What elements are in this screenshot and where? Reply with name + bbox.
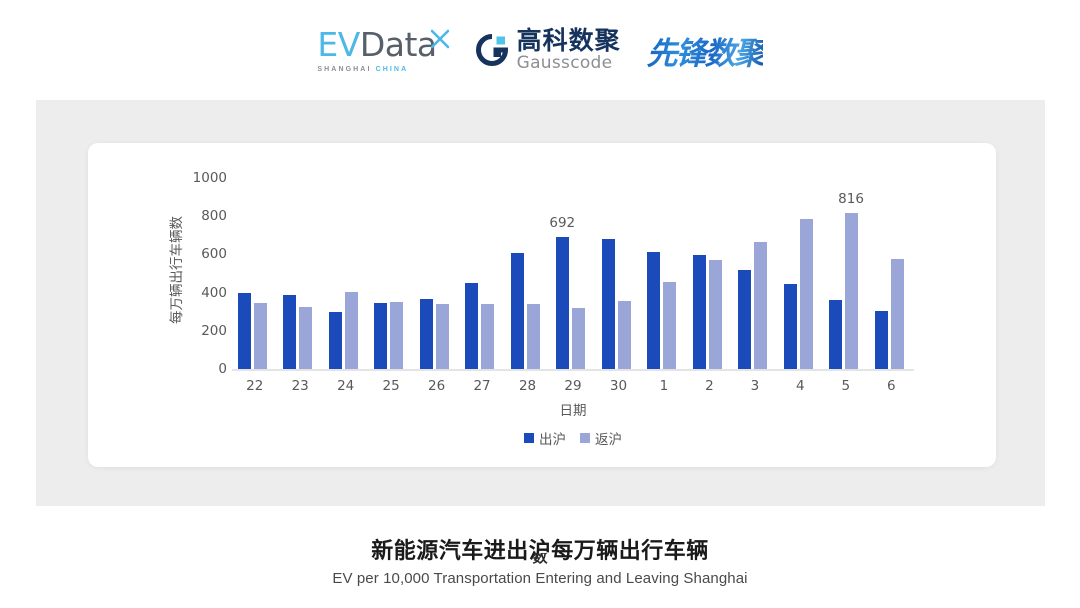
evdata-data-text: Data <box>360 25 437 64</box>
logo-bar: EVData SHANGHAI CHINA 高科数 <box>0 14 1080 86</box>
bar-out-of-shanghai[interactable] <box>511 253 524 369</box>
bar-group <box>869 178 914 369</box>
bar-out-of-shanghai[interactable] <box>374 303 387 369</box>
x-axis-tick-label: 5 <box>825 378 867 394</box>
logo-xianfeng: 先锋数聚 <box>647 28 763 73</box>
x-axis-tick-label: 25 <box>370 378 412 394</box>
bar-group <box>596 178 641 369</box>
x-axis-tick-label: 30 <box>597 378 639 394</box>
page-subtitle: EV per 10,000 Transportation Entering an… <box>0 570 1080 587</box>
bar-into-shanghai[interactable] <box>754 242 767 369</box>
legend-item[interactable]: 返沪 <box>580 428 622 448</box>
bar-value-label: 816 <box>838 191 864 207</box>
x-axis-tick-label: 6 <box>870 378 912 394</box>
plot-area: 692816 <box>232 178 914 369</box>
bar-group <box>459 178 504 369</box>
y-axis-title: 每万辆出行车辆数 <box>165 182 185 358</box>
bar-into-shanghai[interactable] <box>800 219 813 369</box>
bar-into-shanghai[interactable] <box>663 282 676 369</box>
bar-into-shanghai[interactable] <box>436 304 449 369</box>
y-axis-tick-label: 1000 <box>185 170 227 186</box>
logo-evdata: EVData SHANGHAI CHINA <box>317 28 448 73</box>
legend-label: 返沪 <box>595 428 622 448</box>
x-axis-tick-label: 2 <box>688 378 730 394</box>
x-axis-tick-label: 24 <box>325 378 367 394</box>
y-axis-ticks: 02004006008001000 <box>185 0 227 608</box>
x-sparkle-icon <box>429 22 451 44</box>
bar-into-shanghai[interactable] <box>254 303 267 369</box>
evdata-wordmark: EVData <box>317 28 436 61</box>
chart-legend: 出沪返沪 <box>232 428 914 448</box>
bar-out-of-shanghai[interactable] <box>693 255 706 369</box>
x-axis-line <box>232 369 914 371</box>
x-axis-tick-label: 3 <box>734 378 776 394</box>
gausscode-wordmark: 高科数聚 Gausscode <box>517 28 621 72</box>
bar-into-shanghai[interactable] <box>527 304 540 369</box>
bar-into-shanghai[interactable] <box>390 302 403 369</box>
bar-into-shanghai[interactable] <box>618 301 631 369</box>
bar-out-of-shanghai[interactable] <box>829 300 842 369</box>
y-axis-tick-label: 400 <box>185 285 227 301</box>
x-axis-tick-label: 22 <box>234 378 276 394</box>
legend-item[interactable]: 出沪 <box>524 428 566 448</box>
y-axis-title-holder: 每万辆出行车辆数 <box>175 180 176 181</box>
bar-into-shanghai[interactable] <box>845 213 858 369</box>
logo-gausscode: 高科数聚 Gausscode <box>475 28 621 72</box>
bar-into-shanghai[interactable] <box>572 308 585 369</box>
evdata-tagline-china: CHINA <box>376 66 409 73</box>
x-axis-tick-label: 26 <box>416 378 458 394</box>
bar-out-of-shanghai[interactable] <box>602 239 615 369</box>
bar-group <box>641 178 686 369</box>
bar-group <box>778 178 823 369</box>
y-axis-tick-label: 800 <box>185 208 227 224</box>
bar-group <box>505 178 550 369</box>
bar-into-shanghai[interactable] <box>709 260 722 369</box>
bar-value-label: 692 <box>549 215 575 231</box>
bar-group <box>232 178 277 369</box>
bar-into-shanghai[interactable] <box>299 307 312 369</box>
bar-out-of-shanghai[interactable] <box>283 295 296 369</box>
bar-into-shanghai[interactable] <box>345 292 358 369</box>
bar-out-of-shanghai[interactable] <box>875 311 888 369</box>
bar-into-shanghai[interactable] <box>481 304 494 369</box>
bar-out-of-shanghai[interactable] <box>420 299 433 369</box>
gausscode-cn-text: 高科数聚 <box>517 28 621 54</box>
bar-group <box>323 178 368 369</box>
bar-out-of-shanghai[interactable] <box>784 284 797 369</box>
legend-label: 出沪 <box>539 428 566 448</box>
y-axis-tick-label: 200 <box>185 323 227 339</box>
bar-group: 692 <box>550 178 595 369</box>
gausscode-en-text: Gausscode <box>517 55 621 72</box>
x-axis-tick-label: 29 <box>552 378 594 394</box>
bar-into-shanghai[interactable] <box>891 259 904 369</box>
bar-group <box>277 178 322 369</box>
bar-group <box>732 178 777 369</box>
bar-group: 816 <box>823 178 868 369</box>
x-axis-title: 日期 <box>232 399 914 419</box>
x-axis-tick-label: 4 <box>779 378 821 394</box>
bar-out-of-shanghai[interactable] <box>556 237 569 369</box>
bar-out-of-shanghai[interactable] <box>647 252 660 369</box>
bar-out-of-shanghai[interactable] <box>238 293 251 369</box>
bar-out-of-shanghai[interactable] <box>329 312 342 369</box>
x-axis-tick-label: 27 <box>461 378 503 394</box>
title-artifact-glyph: 数 <box>0 553 1080 566</box>
bar-out-of-shanghai[interactable] <box>738 270 751 369</box>
bar-out-of-shanghai[interactable] <box>465 283 478 369</box>
slide-root: EVData SHANGHAI CHINA 高科数 <box>0 0 1080 608</box>
bar-group <box>414 178 459 369</box>
legend-swatch-icon <box>580 433 590 443</box>
x-axis-tick-label: 23 <box>279 378 321 394</box>
evdata-tagline: SHANGHAI CHINA <box>317 66 408 73</box>
y-axis-tick-label: 600 <box>185 246 227 262</box>
bar-group <box>368 178 413 369</box>
legend-swatch-icon <box>524 433 534 443</box>
evdata-tagline-shanghai: SHANGHAI <box>317 66 375 73</box>
y-axis-tick-label: 0 <box>185 361 227 377</box>
evdata-ev-text: EV <box>317 25 359 64</box>
g-circle-icon <box>475 33 509 67</box>
x-axis-tick-label: 1 <box>643 378 685 394</box>
bar-group <box>687 178 732 369</box>
x-axis-tick-label: 28 <box>507 378 549 394</box>
